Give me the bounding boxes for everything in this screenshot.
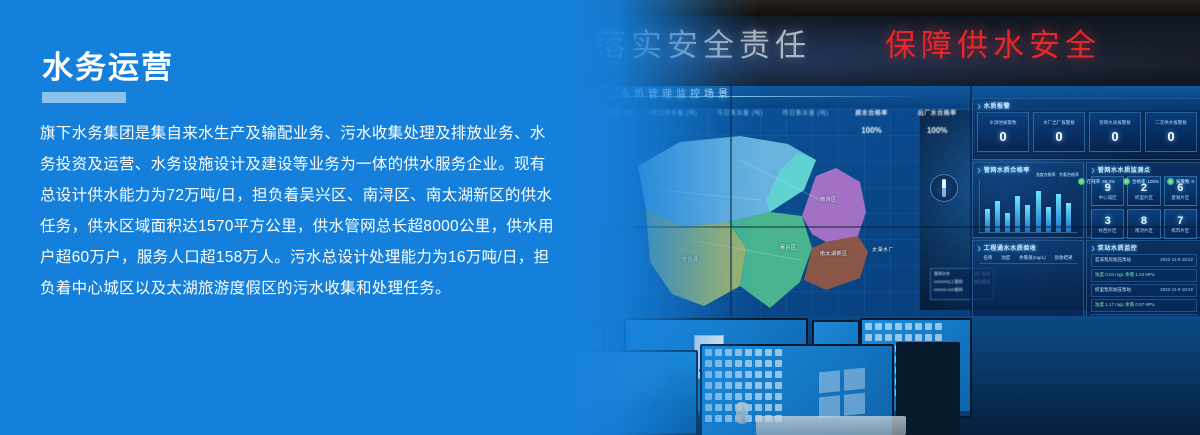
alarm-card[interactable]: 水厂出厂报警数 0 — [1033, 112, 1085, 152]
site-cell[interactable]: 7 练市片区 — [1164, 209, 1197, 239]
site-label: 织里片区 — [1135, 195, 1153, 201]
panel-title: 管网水质合格率 — [977, 165, 1030, 174]
site-value: 8 — [1141, 215, 1147, 227]
map-label-region: 太湖水厂 — [872, 246, 894, 253]
alarm-card[interactable]: 二次供水报警数 0 — [1145, 112, 1197, 152]
panel-title: 水质报警 — [977, 101, 1010, 110]
kpi-label: 出厂水合格率 — [904, 108, 970, 117]
panel-title: 泵站水质监控 — [1091, 243, 1137, 252]
status-badge: 在线率 99.2% — [1078, 178, 1115, 185]
panel-project-acceptance[interactable]: 工程通水水质验收 名称 浊度 余氯值(mg/L) 验收结果 — [972, 240, 1084, 318]
station-log-list: 苕溪泵房加压泵站 2022-11-9 18:22 浊度 0.04 mgL 余氯 … — [1091, 254, 1197, 317]
panel-title: 工程通水水质验收 — [977, 243, 1037, 252]
site-label: 南浔片区 — [1135, 228, 1153, 234]
map-label-region: 吴兴区 — [780, 244, 797, 251]
badge-label: 报警数 — [1176, 179, 1190, 184]
site-grid: 9 中心城区 2 织里片区 6 菱湖片区 3 妙 — [1091, 176, 1197, 239]
column-header: 浊度 — [1001, 255, 1010, 261]
alarm-label: 管网水质报警数 — [1099, 120, 1131, 126]
chart-x-axis — [979, 232, 1077, 233]
badge-value: 0 — [1191, 179, 1194, 184]
site-label: 妙西片区 — [1099, 228, 1117, 234]
alarm-card-list: 水源地报警数 0 水厂出厂报警数 0 管网水质报警数 0 二次供水报警数 — [977, 112, 1197, 152]
badge-value: 99.2% — [1102, 179, 1115, 184]
chart-bars — [982, 178, 1074, 232]
alarm-label: 水源地报警数 — [990, 120, 1017, 126]
dashboard-panels: 水质报警 水源地报警数 0 水厂出厂报警数 0 管网水质报警数 0 — [972, 98, 1200, 318]
log-metrics: 浊度 0.04 mgL 余氯 1.04 MPa — [1095, 272, 1155, 278]
acceptance-table-header: 名称 浊度 余氯值(mg/L) 验收结果 — [979, 255, 1077, 264]
rate-chart — [979, 179, 1077, 233]
water-operations-banner: 落实安全责任 保障供水安全 水质管理监控场景 今日供水量 (万吨) 今日出厂水量… — [0, 0, 1200, 435]
site-label: 菱湖片区 — [1171, 195, 1189, 201]
page-title: 水务运营 — [42, 50, 174, 86]
alarm-value: 0 — [1055, 129, 1062, 144]
site-value: 3 — [1105, 215, 1111, 227]
chart-y-axis — [979, 179, 980, 233]
keyboard[interactable] — [756, 416, 906, 435]
log-row-metrics: 浊度 1.17 mgL 余氯 0.97 MPa — [1091, 299, 1197, 312]
status-badge: 报警数 0 — [1167, 178, 1194, 185]
status-dot-icon — [1167, 178, 1174, 185]
log-time: 2022-11-9 18:22 — [1160, 257, 1193, 262]
log-metrics: 浊度 1.17 mgL 余氯 0.97 MPa — [1095, 302, 1155, 308]
site-label: 中心城区 — [1099, 195, 1117, 201]
paragraph-text: 旗下水务集团是集自来水生产及输配业务、污水收集处理及排放业务、水务投资及运营、水… — [40, 118, 555, 304]
log-name: 织里泵房加压泵站 — [1095, 287, 1131, 293]
alarm-value: 0 — [1111, 129, 1118, 144]
map-legend-title: 管网分布 — [934, 271, 950, 277]
log-row[interactable]: 苕溪泵房加压泵站 2022-11-9 18:22 — [1091, 254, 1197, 267]
map-region-nanxun — [802, 168, 866, 242]
kpi-label: 原水合格率 — [839, 108, 905, 117]
column-header: 名称 — [983, 255, 992, 261]
windows-logo-icon — [819, 368, 865, 419]
badge-label: 在线率 — [1087, 179, 1101, 184]
map-label-region: 南浔区 — [820, 196, 837, 203]
alarm-value: 0 — [999, 129, 1006, 144]
site-cell[interactable]: 8 南浔片区 — [1127, 209, 1160, 239]
log-time: 2022-11-9 18:22 — [1160, 287, 1193, 292]
map-legend-label: DN300以上管网 — [934, 279, 962, 285]
map-label-region: 南太湖新区 — [820, 250, 848, 257]
compass-icon — [930, 174, 958, 202]
status-dot-icon — [1123, 178, 1130, 185]
status-badge: 合格率 100% — [1123, 178, 1159, 185]
control-room-photo: 落实安全责任 保障供水安全 水质管理监控场景 今日供水量 (万吨) 今日出厂水量… — [500, 0, 1200, 435]
alarm-label: 二次供水报警数 — [1155, 120, 1187, 126]
log-row-metrics: 浊度 0.04 mgL 余氯 1.04 MPa — [1091, 269, 1197, 282]
wall-slogan-right: 保障供水安全 — [885, 24, 1101, 68]
log-row[interactable]: 织里泵房加压泵站 2022-11-9 18:22 — [1091, 284, 1197, 297]
alarm-card[interactable]: 管网水质报警数 0 — [1089, 112, 1141, 152]
status-badge-row: 在线率 99.2% 合格率 100% 报警数 0 — [1078, 178, 1194, 185]
log-name: 苕溪泵房加压泵站 — [1095, 257, 1131, 263]
title-underline-rule — [42, 92, 126, 103]
map-legend-label: DN100-300管网 — [934, 287, 962, 293]
site-cell[interactable]: 3 妙西片区 — [1091, 209, 1124, 239]
panel-title: 管网水水质监测点 — [1091, 165, 1151, 174]
site-label: 练市片区 — [1171, 228, 1189, 234]
column-header: 余氯值(mg/L) — [1019, 255, 1046, 261]
site-value: 7 — [1177, 215, 1183, 227]
badge-value: 100% — [1147, 179, 1159, 184]
panel-water-quality-alarm[interactable]: 水质报警 水源地报警数 0 水厂出厂报警数 0 管网水质报警数 0 — [972, 98, 1200, 160]
legend-entry: 余氯合格率 — [1059, 172, 1079, 177]
kpi-label: 昨日售水量 (吨) — [773, 108, 839, 117]
alarm-label: 水厂出厂报警数 — [1043, 120, 1075, 126]
column-header: 验收结果 — [1055, 255, 1073, 261]
left-text-panel: 水务运营 旗下水务集团是集自来水生产及输配业务、污水收集处理及排放业务、水务投资… — [0, 0, 560, 435]
alarm-card[interactable]: 水源地报警数 0 — [977, 112, 1029, 152]
body-paragraph: 旗下水务集团是集自来水生产及输配业务、污水收集处理及排放业务、水务投资及运营、水… — [40, 118, 555, 304]
legend-entry: 浊度合格率 — [1036, 172, 1056, 177]
badge-label: 合格率 — [1132, 179, 1146, 184]
panel-station-quality-log[interactable]: 泵站水质监控 苕溪泵房加压泵站 2022-11-9 18:22 浊度 0.04 … — [1086, 240, 1200, 318]
alarm-value: 0 — [1167, 129, 1174, 144]
status-dot-icon — [1078, 178, 1085, 185]
map-region-taihu-new — [804, 236, 868, 290]
